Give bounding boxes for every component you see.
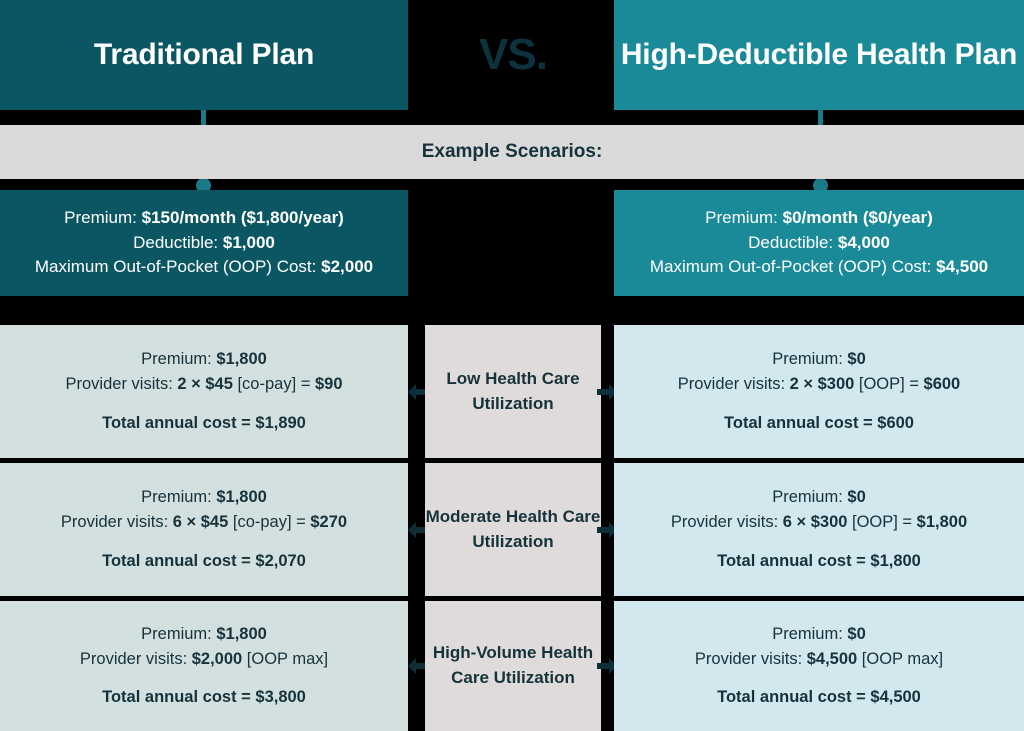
right-visits-value: $4,500 bbox=[807, 650, 857, 668]
left-visits-note: [co-pay] = bbox=[233, 375, 315, 393]
right-visits-line: Provider visits: 6 × $300 [OOP] = $1,800 bbox=[671, 510, 967, 535]
right-visits-value: 2 × $300 bbox=[790, 375, 855, 393]
right-visits-note: [OOP] = bbox=[847, 513, 916, 531]
left-premium-value: $1,800 bbox=[216, 350, 266, 368]
header-high-deductible-plan: High-Deductible Health Plan bbox=[614, 0, 1024, 110]
left-visits-line: Provider visits: 6 × $45 [co-pay] = $270 bbox=[61, 510, 347, 535]
summary-right-oop-value: $4,500 bbox=[936, 257, 988, 276]
left-premium-line: Premium: $1,800 bbox=[141, 347, 267, 372]
scenario-utilization-label: Moderate Health Care Utilization bbox=[425, 505, 601, 554]
summary-left-oop: Maximum Out-of-Pocket (OOP) Cost: $2,000 bbox=[35, 255, 373, 280]
left-premium-value: $1,800 bbox=[216, 625, 266, 643]
left-premium-label: Premium: bbox=[141, 488, 216, 506]
right-total-cost: Total annual cost = $600 bbox=[724, 411, 914, 436]
left-total-cost: Total annual cost = $1,890 bbox=[102, 411, 306, 436]
left-visits-label: Provider visits: bbox=[66, 375, 178, 393]
left-visits-value: 2 × $45 bbox=[177, 375, 233, 393]
right-premium-label: Premium: bbox=[772, 350, 847, 368]
right-visits-value: 6 × $300 bbox=[783, 513, 848, 531]
summary-left-oop-value: $2,000 bbox=[321, 257, 373, 276]
summary-right-premium-value: $0/month ($0/year) bbox=[783, 208, 933, 227]
summary-left-deductible-value: $1,000 bbox=[223, 233, 275, 252]
left-premium-label: Premium: bbox=[141, 625, 216, 643]
summary-right-deductible-label: Deductible: bbox=[748, 233, 838, 252]
scenario-row: Premium: $1,800 Provider visits: $2,000 … bbox=[0, 601, 1024, 731]
scenario-row: Premium: $1,800 Provider visits: 2 × $45… bbox=[0, 325, 1024, 458]
right-premium-line: Premium: $0 bbox=[772, 622, 866, 647]
scenario-right-cell: Premium: $0 Provider visits: $4,500 [OOP… bbox=[614, 601, 1024, 731]
left-premium-label: Premium: bbox=[141, 350, 216, 368]
scenario-middle-cell: Moderate Health Care Utilization bbox=[425, 463, 601, 596]
right-visits-note: [OOP max] bbox=[857, 650, 943, 668]
left-total-cost: Total annual cost = $2,070 bbox=[102, 549, 306, 574]
scenario-middle-cell: Low Health Care Utilization bbox=[425, 325, 601, 458]
left-visits-value: 6 × $45 bbox=[173, 513, 229, 531]
summary-left-premium-value: $150/month ($1,800/year) bbox=[142, 208, 344, 227]
right-premium-line: Premium: $0 bbox=[772, 347, 866, 372]
right-visits-line: Provider visits: $4,500 [OOP max] bbox=[695, 647, 943, 672]
scenario-right-cell: Premium: $0 Provider visits: 2 × $300 [O… bbox=[614, 325, 1024, 458]
left-visits-value: $2,000 bbox=[192, 650, 242, 668]
summary-right-premium: Premium: $0/month ($0/year) bbox=[705, 206, 933, 231]
left-visits-note: [OOP max] bbox=[242, 650, 328, 668]
scenario-utilization-label: Low Health Care Utilization bbox=[425, 367, 601, 416]
right-premium-label: Premium: bbox=[772, 488, 847, 506]
summary-right-deductible-value: $4,000 bbox=[838, 233, 890, 252]
scenario-row: Premium: $1,800 Provider visits: 6 × $45… bbox=[0, 463, 1024, 596]
right-visits-label: Provider visits: bbox=[671, 513, 783, 531]
right-visits-line: Provider visits: 2 × $300 [OOP] = $600 bbox=[678, 372, 961, 397]
left-visits-note: [co-pay] = bbox=[228, 513, 310, 531]
summary-left-premium: Premium: $150/month ($1,800/year) bbox=[64, 206, 344, 231]
left-premium-value: $1,800 bbox=[216, 488, 266, 506]
left-visits-total: $270 bbox=[310, 513, 347, 531]
example-scenarios-bar: Example Scenarios: bbox=[0, 125, 1024, 179]
left-premium-line: Premium: $1,800 bbox=[141, 622, 267, 647]
right-premium-value: $0 bbox=[847, 488, 865, 506]
traditional-plan-title: Traditional Plan bbox=[94, 38, 314, 72]
right-total-cost: Total annual cost = $4,500 bbox=[717, 685, 921, 710]
summary-left-premium-label: Premium: bbox=[64, 208, 141, 227]
right-visits-total: $1,800 bbox=[917, 513, 967, 531]
header-traditional-plan: Traditional Plan bbox=[0, 0, 408, 110]
summary-traditional-plan: Premium: $150/month ($1,800/year) Deduct… bbox=[0, 190, 408, 296]
left-visits-line: Provider visits: $2,000 [OOP max] bbox=[80, 647, 328, 672]
left-visits-total: $90 bbox=[315, 375, 343, 393]
summary-right-oop: Maximum Out-of-Pocket (OOP) Cost: $4,500 bbox=[650, 255, 988, 280]
high-deductible-plan-title: High-Deductible Health Plan bbox=[621, 38, 1017, 72]
left-premium-line: Premium: $1,800 bbox=[141, 485, 267, 510]
right-premium-label: Premium: bbox=[772, 625, 847, 643]
scenario-right-cell: Premium: $0 Provider visits: 6 × $300 [O… bbox=[614, 463, 1024, 596]
scenario-middle-cell: High-Volume Health Care Utilization bbox=[425, 601, 601, 731]
scenario-utilization-label: High-Volume Health Care Utilization bbox=[425, 641, 601, 690]
left-total-cost: Total annual cost = $3,800 bbox=[102, 685, 306, 710]
summary-right-deductible: Deductible: $4,000 bbox=[748, 231, 890, 256]
right-premium-line: Premium: $0 bbox=[772, 485, 866, 510]
summary-left-deductible-label: Deductible: bbox=[133, 233, 223, 252]
right-visits-label: Provider visits: bbox=[695, 650, 807, 668]
scenario-left-cell: Premium: $1,800 Provider visits: 2 × $45… bbox=[0, 325, 408, 458]
right-premium-value: $0 bbox=[847, 625, 865, 643]
right-total-cost: Total annual cost = $1,800 bbox=[717, 549, 921, 574]
left-visits-label: Provider visits: bbox=[61, 513, 173, 531]
summary-right-oop-label: Maximum Out-of-Pocket (OOP) Cost: bbox=[650, 257, 936, 276]
comparison-infographic: Traditional Plan VS. High-Deductible Hea… bbox=[0, 0, 1024, 731]
example-scenarios-label: Example Scenarios: bbox=[422, 141, 603, 163]
scenario-left-cell: Premium: $1,800 Provider visits: $2,000 … bbox=[0, 601, 408, 731]
summary-left-deductible: Deductible: $1,000 bbox=[133, 231, 275, 256]
right-visits-label: Provider visits: bbox=[678, 375, 790, 393]
left-visits-line: Provider visits: 2 × $45 [co-pay] = $90 bbox=[66, 372, 343, 397]
vs-label: VS. bbox=[425, 0, 601, 110]
right-premium-value: $0 bbox=[847, 350, 865, 368]
summary-right-premium-label: Premium: bbox=[705, 208, 782, 227]
right-visits-total: $600 bbox=[924, 375, 961, 393]
right-visits-note: [OOP] = bbox=[854, 375, 923, 393]
summary-high-deductible-plan: Premium: $0/month ($0/year) Deductible: … bbox=[614, 190, 1024, 296]
left-visits-label: Provider visits: bbox=[80, 650, 192, 668]
summary-left-oop-label: Maximum Out-of-Pocket (OOP) Cost: bbox=[35, 257, 321, 276]
scenario-left-cell: Premium: $1,800 Provider visits: 6 × $45… bbox=[0, 463, 408, 596]
